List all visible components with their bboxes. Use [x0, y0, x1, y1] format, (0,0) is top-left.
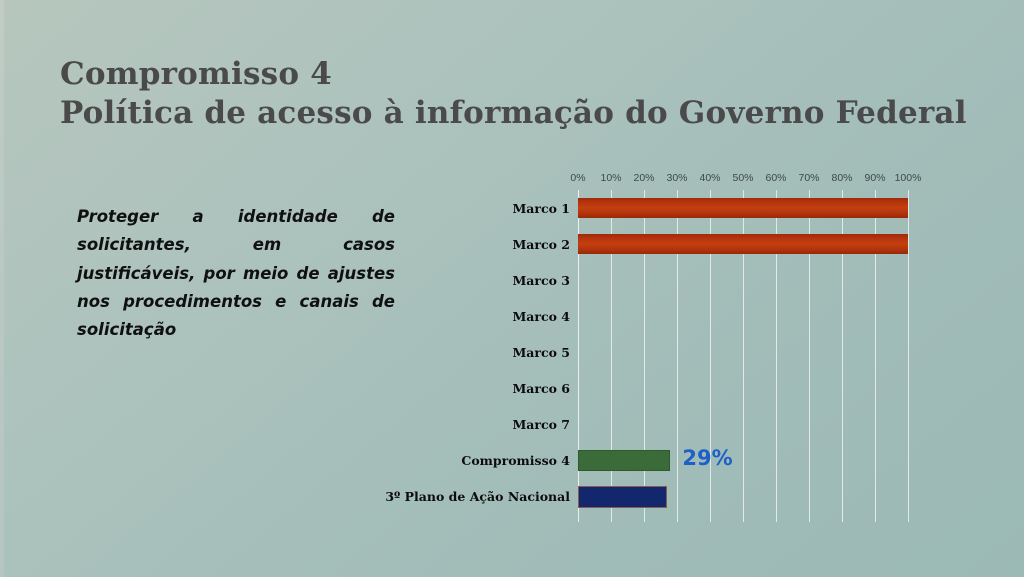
chart-bar — [578, 198, 908, 218]
chart-bar-row — [578, 370, 908, 406]
chart-category-label: Marco 5 — [512, 345, 570, 361]
chart-bar-row — [578, 442, 908, 478]
x-tick-label: 10% — [600, 172, 621, 184]
chart-x-axis-labels: 0%10%20%30%40%50%60%70%80%90%100% — [578, 172, 908, 188]
slide: Compromisso 4 Política de acesso à infor… — [0, 0, 1024, 577]
title-line-2: Política de acesso à informação do Gover… — [60, 94, 980, 133]
progress-bar-chart: 0%10%20%30%40%50%60%70%80%90%100% Marco … — [380, 168, 940, 528]
x-tick-label: 0% — [570, 172, 585, 184]
x-tick-label: 20% — [633, 172, 654, 184]
x-tick-label: 40% — [699, 172, 720, 184]
slide-edge-strip — [0, 0, 4, 577]
chart-gridline — [908, 190, 909, 522]
chart-category-label: Marco 1 — [512, 201, 570, 217]
x-tick-label: 70% — [798, 172, 819, 184]
chart-bar-row — [578, 334, 908, 370]
chart-bar-row — [578, 226, 908, 262]
chart-value-label: 29% — [682, 446, 732, 470]
chart-plot-area — [578, 190, 908, 522]
chart-category-label: Compromisso 4 — [461, 453, 570, 469]
chart-category-label: Marco 6 — [512, 381, 570, 397]
chart-bar-row — [578, 406, 908, 442]
chart-bar-row — [578, 190, 908, 226]
chart-category-label: Marco 4 — [512, 309, 570, 325]
commitment-description: Proteger a identidade de solicitantes, e… — [77, 203, 395, 344]
chart-category-label: Marco 3 — [512, 273, 570, 289]
chart-category-label: Marco 7 — [512, 417, 570, 433]
chart-bar-row — [578, 262, 908, 298]
chart-category-label: Marco 2 — [512, 237, 570, 253]
x-tick-label: 80% — [831, 172, 852, 184]
chart-bar-row — [578, 478, 908, 514]
chart-category-label: 3º Plano de Ação Nacional — [385, 489, 570, 505]
chart-bar — [578, 234, 908, 254]
x-tick-label: 50% — [732, 172, 753, 184]
x-tick-label: 90% — [864, 172, 885, 184]
chart-bar — [578, 450, 670, 471]
chart-bar — [578, 486, 667, 508]
chart-bar-row — [578, 298, 908, 334]
x-tick-label: 60% — [765, 172, 786, 184]
x-tick-label: 100% — [895, 172, 922, 184]
x-tick-label: 30% — [666, 172, 687, 184]
title-line-1: Compromisso 4 — [60, 55, 980, 94]
page-title: Compromisso 4 Política de acesso à infor… — [60, 55, 980, 133]
